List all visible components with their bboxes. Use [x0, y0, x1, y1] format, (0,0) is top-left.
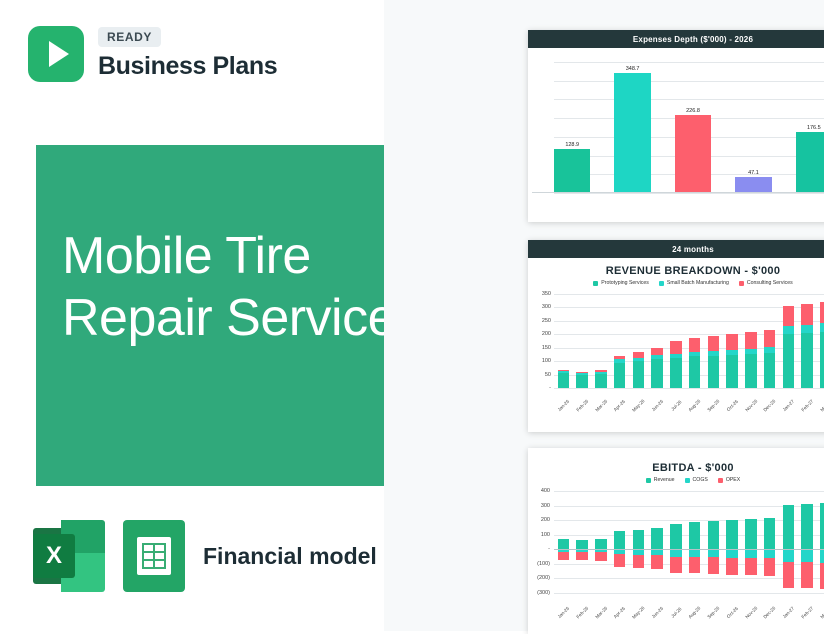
- legend-color-swatch: [718, 478, 723, 483]
- x-tick-label: Apr-26: [611, 397, 628, 414]
- bar-column: [629, 491, 648, 593]
- bar-column: [779, 294, 798, 388]
- revenue-plot: 35030025020015010050 - Jan-26Feb-26Mar-2…: [528, 290, 824, 410]
- bar-segment: [764, 330, 776, 347]
- x-tick-label: Oct-26: [724, 604, 741, 621]
- bar-segment: [745, 558, 757, 575]
- bar-segment: [726, 355, 738, 388]
- bar-segment: [670, 524, 682, 550]
- google-sheets-icon: [123, 520, 185, 592]
- bar-segment: [708, 521, 720, 549]
- bar: [735, 177, 771, 193]
- x-tick-label: Feb-27: [799, 397, 816, 414]
- bar-segment: [783, 326, 795, 334]
- y-tick-label: 250: [542, 318, 551, 324]
- x-tick-label: Feb-26: [574, 397, 591, 414]
- bar-column: [704, 491, 723, 593]
- stacked-bar: [576, 372, 588, 388]
- bar-segment: [764, 518, 776, 549]
- bar: [554, 149, 590, 193]
- ebitda-bars: [554, 491, 824, 593]
- x-tick-label: Jun-26: [649, 397, 666, 414]
- legend-color-swatch: [659, 281, 664, 286]
- bar-column: [685, 294, 704, 388]
- x-tick-label: Mar-27: [817, 604, 824, 621]
- legend-item: Prototyping Services: [593, 280, 649, 286]
- bar-column: [573, 491, 592, 593]
- ebitda-legend: RevenueCOGSOPEX: [528, 477, 824, 483]
- bar-column: [742, 294, 761, 388]
- bar-segment: [670, 557, 682, 573]
- chart-card-ebitda: EBITDA - $'000 RevenueCOGSOPEX 400300200…: [528, 448, 824, 634]
- x-tick-label: Dec-26: [761, 397, 778, 414]
- x-tick-label: May-26: [630, 604, 647, 621]
- revenue-chart-header: 24 months: [528, 240, 824, 258]
- stacked-bar: [670, 341, 682, 388]
- y-tick-label: (200): [528, 575, 550, 581]
- bar-segment: [670, 341, 682, 354]
- bar-column: 176.5: [784, 62, 824, 193]
- y-tick-label: 50: [545, 372, 551, 378]
- bar-column: [817, 491, 824, 593]
- y-tick-label: -: [549, 385, 551, 391]
- bar-segment: [820, 503, 824, 550]
- bar-segment: [726, 558, 738, 575]
- bar-segment: [558, 539, 570, 549]
- bar-segment: [595, 374, 607, 388]
- bar-segment: [576, 552, 588, 560]
- y-tick-label: 400: [528, 488, 550, 494]
- bar-segment: [689, 557, 701, 573]
- brand-name: Business Plans: [98, 52, 277, 81]
- bar-column: 226.8: [663, 62, 723, 193]
- y-tick-label: 300: [542, 304, 551, 310]
- chart-card-revenue: 24 months REVENUE BREAKDOWN - $'000 Prot…: [528, 240, 824, 432]
- bar-column: [629, 294, 648, 388]
- legend-label: OPEX: [726, 477, 740, 483]
- y-tick-label: 200: [542, 331, 551, 337]
- y-tick-label: 100: [528, 532, 550, 538]
- file-format-row: X Financial model: [33, 520, 377, 592]
- bar-segment: [745, 519, 757, 549]
- bar-segment: [801, 325, 813, 333]
- bar-segment: [745, 549, 757, 558]
- x-tick-label: Apr-26: [611, 604, 628, 621]
- bar-column: [723, 294, 742, 388]
- ebitda-chart-title: EBITDA - $'000: [528, 462, 824, 474]
- stacked-bar: [633, 352, 645, 388]
- x-tick-label: Jan-27: [780, 397, 797, 414]
- bar-segment: [783, 306, 795, 326]
- chart-card-expenses: Expenses Depth ($'000) - 2026 128.9348.7…: [528, 30, 824, 222]
- ebitda-plot: 400300200100 - (100)(200)(300)Jan-26Feb-…: [528, 487, 824, 617]
- bar-segment: [651, 555, 663, 569]
- brand-logo: READY Business Plans: [28, 26, 277, 82]
- bar-segment: [689, 338, 701, 352]
- y-tick-label: -: [528, 546, 550, 552]
- stacked-bar: [595, 370, 607, 388]
- x-tick-label: Mar-26: [592, 604, 609, 621]
- bar-column: [723, 491, 742, 593]
- bar-column: 348.7: [602, 62, 662, 193]
- bar-segment: [614, 363, 626, 389]
- y-tick-label: 150: [542, 345, 551, 351]
- x-tick-labels: Jan-26Feb-26Mar-26Apr-26May-26Jun-26Jul-…: [554, 403, 824, 408]
- bar-segment: [689, 549, 701, 557]
- bar-column: [779, 491, 798, 593]
- stacked-bar: [614, 356, 626, 388]
- bar-segment: [820, 563, 824, 590]
- x-tick-label: Jan-27: [780, 604, 797, 621]
- gridline: [554, 193, 824, 194]
- bar-segment: [764, 558, 776, 576]
- revenue-legend: Prototyping ServicesSmall Batch Manufact…: [528, 280, 824, 286]
- bar-column: [610, 294, 629, 388]
- stacked-bar: [726, 334, 738, 388]
- bar-segment: [595, 539, 607, 549]
- stacked-bar: [745, 332, 757, 388]
- legend-item: COGS: [685, 477, 708, 483]
- legend-item: Small Batch Manufacturing: [659, 280, 729, 286]
- x-axis-line: [532, 192, 824, 193]
- bar-segment: [633, 361, 645, 388]
- bar-column: [760, 491, 779, 593]
- legend-label: Prototyping Services: [601, 280, 649, 286]
- bar-column: [798, 491, 817, 593]
- bar-value-label: 47.1: [748, 170, 759, 176]
- legend-item: OPEX: [718, 477, 740, 483]
- bar-segment: [708, 336, 720, 351]
- excel-letter: X: [33, 534, 75, 578]
- bar-segment: [614, 554, 626, 567]
- bar-segment: [689, 522, 701, 549]
- bar-column: [573, 294, 592, 388]
- bar-segment: [651, 528, 663, 550]
- bar-segment: [820, 323, 824, 332]
- bar-segment: [801, 562, 813, 588]
- x-tick-label: Nov-26: [742, 604, 759, 621]
- bar-segment: [801, 304, 813, 325]
- x-tick-label: May-26: [630, 397, 647, 414]
- bar-value-label: 176.5: [807, 125, 821, 131]
- x-tick-label: Aug-26: [686, 397, 703, 414]
- bar: [796, 132, 824, 193]
- x-tick-label: Sep-26: [705, 397, 722, 414]
- legend-color-swatch: [593, 281, 598, 286]
- bar-column: 128.9: [542, 62, 602, 193]
- bar-column: [685, 491, 704, 593]
- bar-segment: [820, 332, 824, 388]
- bar-segment: [670, 358, 682, 388]
- bar-column: [554, 294, 573, 388]
- x-tick-label: Feb-27: [799, 604, 816, 621]
- bar-segment: [783, 549, 795, 562]
- legend-label: Revenue: [654, 477, 675, 483]
- legend-color-swatch: [646, 478, 651, 483]
- bar-column: [667, 491, 686, 593]
- bar-segment: [576, 540, 588, 549]
- bar-column: [648, 491, 667, 593]
- stacked-bar: [708, 336, 720, 388]
- stacked-bar: [558, 370, 570, 388]
- revenue-bars: [554, 294, 824, 388]
- bar-segment: [764, 353, 776, 388]
- bar-segment: [689, 356, 701, 388]
- bar-segment: [651, 359, 663, 388]
- stacked-bar: [689, 338, 701, 388]
- legend-label: Consulting Services: [747, 280, 793, 286]
- stacked-bar: [783, 306, 795, 388]
- x-tick-label: Mar-26: [592, 397, 609, 414]
- bar-column: [610, 491, 629, 593]
- bar-value-label: 348.7: [626, 66, 640, 72]
- gridline: [554, 593, 824, 594]
- bar-segment: [801, 504, 813, 549]
- bar-column: [798, 294, 817, 388]
- bar-segment: [670, 549, 682, 556]
- cover-left-panel: READY Business Plans Mobile Tire Repair …: [0, 0, 384, 631]
- bar: [675, 115, 711, 193]
- bar-column: [760, 294, 779, 388]
- legend-item: Consulting Services: [739, 280, 793, 286]
- stacked-bar: [764, 330, 776, 388]
- x-tick-label: Nov-26: [742, 397, 759, 414]
- bar-segment: [764, 549, 776, 558]
- bar-column: [704, 294, 723, 388]
- x-tick-label: Jul-26: [667, 397, 684, 414]
- y-tick-label: 350: [542, 291, 551, 297]
- y-tick-label: 200: [528, 517, 550, 523]
- bar-segment: [745, 354, 757, 388]
- bar-segment: [745, 332, 757, 349]
- x-tick-label: Oct-26: [724, 397, 741, 414]
- bar-segment: [558, 552, 570, 560]
- expenses-bars: 128.9348.7226.847.1176.5: [542, 62, 824, 193]
- y-tick-label: (100): [528, 561, 550, 567]
- x-tick-label: Dec-26: [761, 604, 778, 621]
- play-triangle-icon: [28, 26, 84, 82]
- bar-segment: [783, 334, 795, 388]
- stacked-bar: [801, 304, 813, 388]
- x-tick-labels: Jan-26Feb-26Mar-26Apr-26May-26Jun-26Jul-…: [554, 610, 824, 615]
- ready-badge: READY: [98, 27, 161, 47]
- stacked-bar: [651, 348, 663, 388]
- bar-segment: [708, 356, 720, 388]
- bar-segment: [708, 557, 720, 574]
- bar-segment: [801, 333, 813, 388]
- bar-segment: [726, 549, 738, 557]
- bar-segment: [558, 373, 570, 388]
- gridline: [554, 388, 824, 389]
- bar-segment: [783, 562, 795, 588]
- bar-column: [667, 294, 686, 388]
- bar-value-label: 128.9: [565, 142, 579, 148]
- bar-segment: [801, 549, 813, 562]
- bar-value-label: 226.8: [686, 108, 700, 114]
- legend-color-swatch: [739, 281, 744, 286]
- financial-model-label: Financial model: [203, 543, 377, 570]
- y-tick-label: 100: [542, 358, 551, 364]
- x-tick-label: Jun-26: [649, 604, 666, 621]
- y-tick-label: 300: [528, 503, 550, 509]
- legend-item: Revenue: [646, 477, 675, 483]
- bar-segment: [633, 530, 645, 550]
- revenue-chart-title: REVENUE BREAKDOWN - $'000: [528, 265, 824, 277]
- stacked-bar: [820, 302, 824, 388]
- bar: [614, 73, 650, 193]
- bar-segment: [726, 334, 738, 350]
- bar-column: [592, 491, 611, 593]
- x-tick-label: Aug-26: [686, 604, 703, 621]
- x-tick-label: Mar-27: [817, 397, 824, 414]
- y-axis: 35030025020015010050 -: [528, 290, 554, 410]
- legend-label: COGS: [693, 477, 708, 483]
- bar-segment: [708, 549, 720, 557]
- expenses-chart-header: Expenses Depth ($'000) - 2026: [528, 30, 824, 48]
- bar-segment: [576, 375, 588, 388]
- bar-segment: [595, 552, 607, 560]
- expenses-plot: 128.9348.7226.847.1176.5: [528, 52, 824, 207]
- legend-label: Small Batch Manufacturing: [667, 280, 729, 286]
- excel-file-icon: X: [33, 520, 105, 592]
- bar-column: [648, 294, 667, 388]
- x-tick-label: Jan-26: [555, 397, 572, 414]
- bar-column: [817, 294, 824, 388]
- zero-line: [554, 549, 824, 550]
- bar-column: [742, 491, 761, 593]
- bar-segment: [820, 302, 824, 323]
- legend-color-swatch: [685, 478, 690, 483]
- bar-segment: [633, 555, 645, 568]
- bar-column: [592, 294, 611, 388]
- bar-segment: [783, 505, 795, 549]
- bar-segment: [820, 549, 824, 562]
- bar-segment: [726, 520, 738, 549]
- x-tick-label: Sep-26: [705, 604, 722, 621]
- x-tick-label: Jul-26: [667, 604, 684, 621]
- bar-segment: [614, 531, 626, 549]
- bar-segment: [651, 348, 663, 355]
- bar-column: 47.1: [723, 62, 783, 193]
- bar-column: [554, 491, 573, 593]
- x-tick-label: Jan-26: [555, 604, 572, 621]
- x-tick-label: Feb-26: [574, 604, 591, 621]
- y-tick-label: (300): [528, 590, 550, 596]
